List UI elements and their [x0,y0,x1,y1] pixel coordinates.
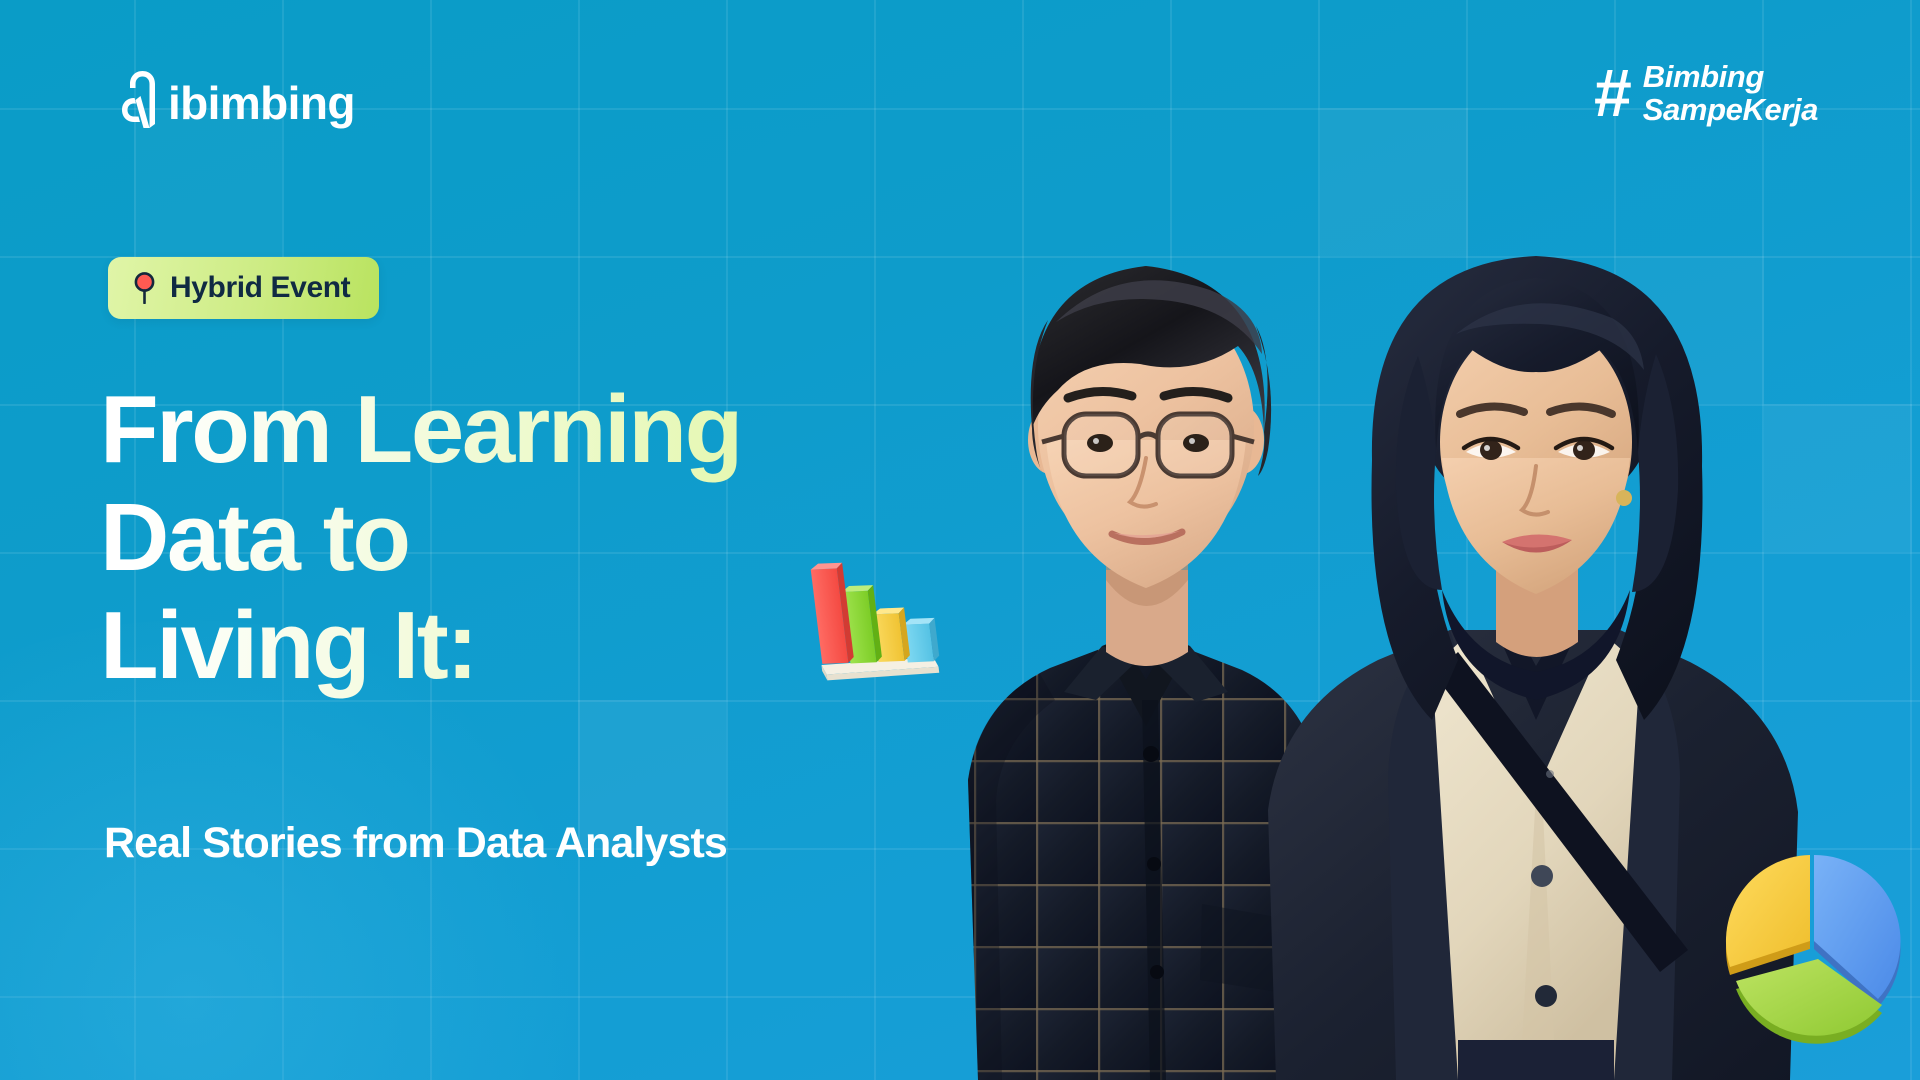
hashtag-line-1: Bimbing [1643,60,1818,93]
logo-wordmark: ibimbing [168,80,355,126]
event-poster: ibimbing # Bimbing SampeKerja Hybrid Eve… [0,0,1920,1080]
location-pin-icon [132,272,157,304]
ibimbing-pin-mark-icon [118,66,164,132]
hashtag-line-2: SampeKerja [1643,93,1818,126]
campaign-hashtag: # Bimbing SampeKerja [1593,60,1818,127]
3d-pie-chart-icon [1702,845,1920,1080]
brand-logo[interactable]: ibimbing [118,66,355,132]
page-subtitle: Real Stories from Data Analysts [104,820,727,867]
3d-bar-chart-icon [806,552,946,682]
event-type-badge[interactable]: Hybrid Event [108,257,379,319]
badge-label: Hybrid Event [170,273,350,303]
hash-symbol-icon: # [1593,61,1629,126]
headline-line-1: From Learning [100,376,1040,484]
